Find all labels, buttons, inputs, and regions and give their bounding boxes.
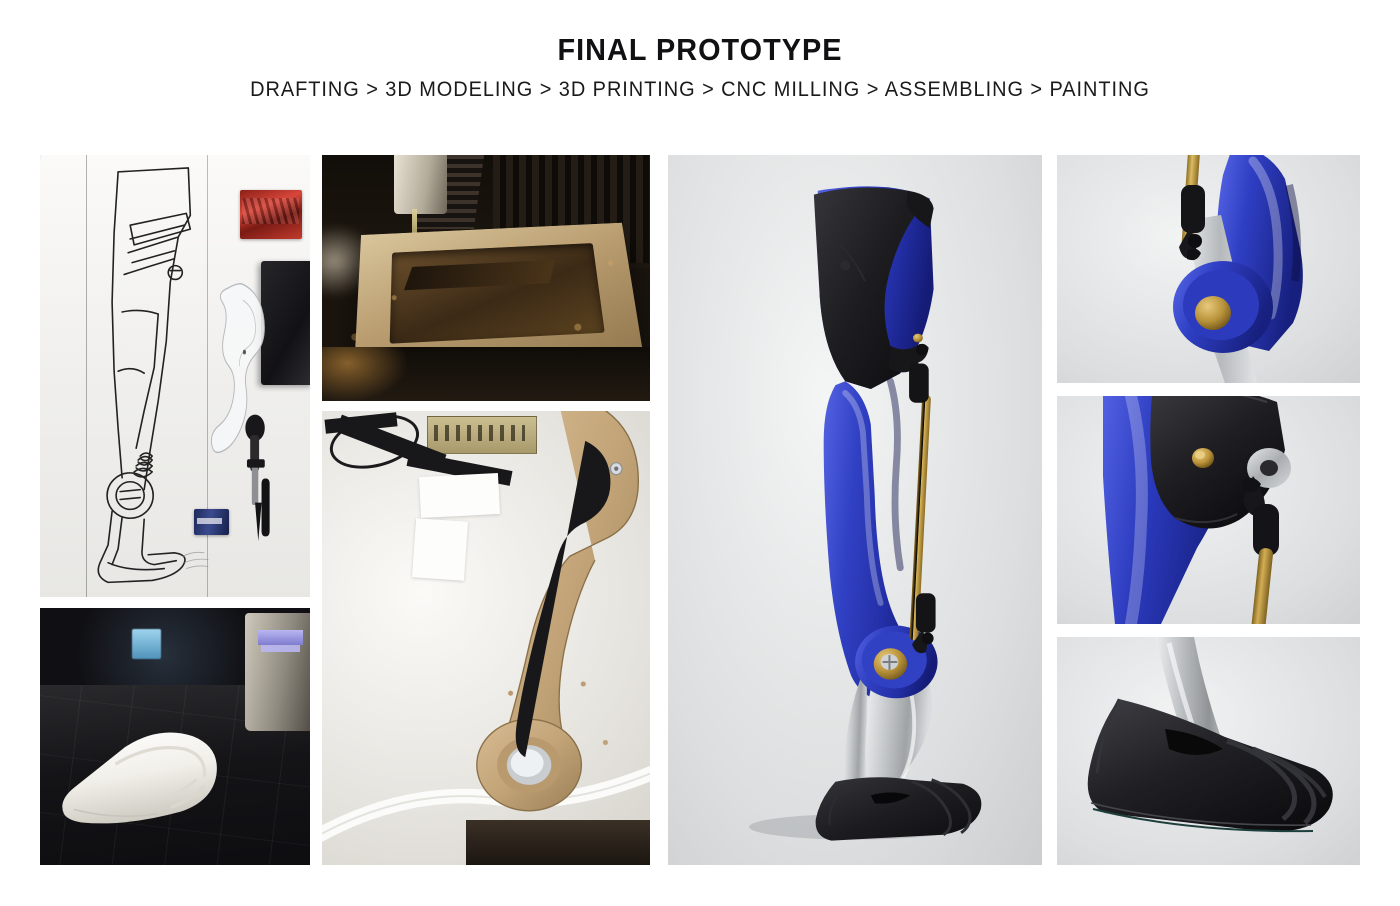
sketch-tool-compass <box>234 411 283 544</box>
bench-dark-edge <box>466 820 650 865</box>
printed-foot-part <box>56 721 234 829</box>
unpainted-leg-part <box>440 411 643 829</box>
panel-assembling[interactable] <box>322 411 650 865</box>
printer-status-light <box>132 629 162 660</box>
ankle-joint-closeup <box>1057 155 1360 383</box>
panel-cnc-milling[interactable] <box>322 155 650 401</box>
printer-display-slot <box>258 630 303 645</box>
cnc-machine-floor <box>322 347 650 401</box>
panel-detail-foot-shell[interactable] <box>1057 637 1360 865</box>
panel-3d-printing[interactable] <box>40 608 310 865</box>
socket-cuff-closeup <box>1057 396 1360 624</box>
final-prosthetic-leg <box>698 169 1012 851</box>
panel-detail-socket-cuff[interactable] <box>1057 396 1360 624</box>
image-board <box>0 0 1400 906</box>
printer-side-panel <box>245 613 310 731</box>
panel-final-prototype-hero[interactable] <box>668 155 1042 865</box>
panel-drafting-sketch[interactable] <box>40 155 310 597</box>
foot-shell-closeup <box>1057 637 1360 865</box>
panel-detail-ankle-joint[interactable] <box>1057 155 1360 383</box>
sketch-tool-eraser <box>194 509 229 536</box>
sketch-tool-blade-packet <box>240 190 302 239</box>
